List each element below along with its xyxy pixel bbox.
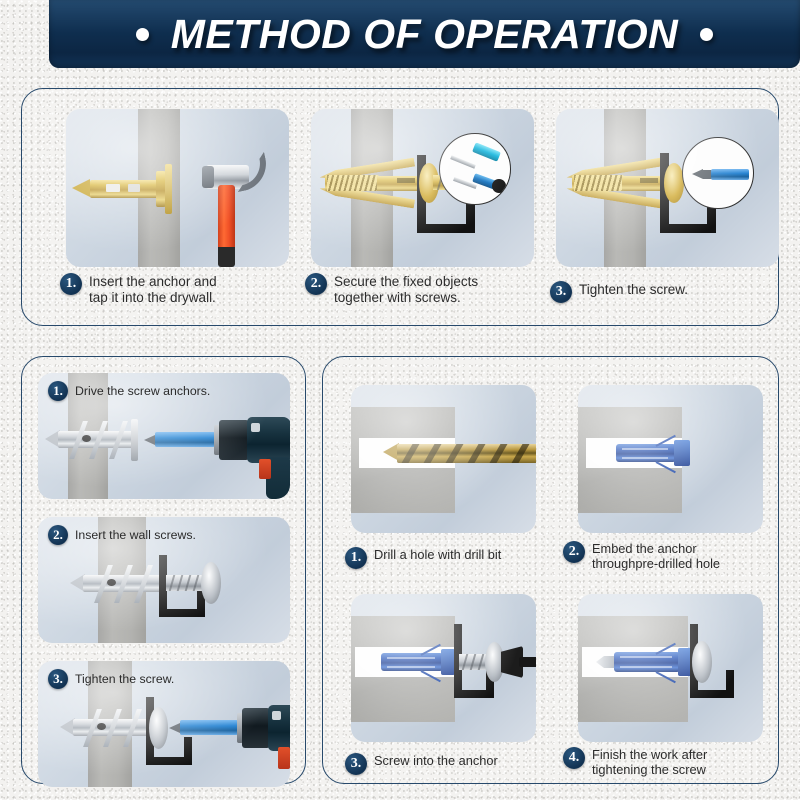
- step-caption-text: Insert the anchor and tap it into the dr…: [89, 274, 217, 305]
- step-number-badge: 1.: [48, 381, 68, 401]
- screwdriver-shaft: [450, 155, 476, 168]
- driver-bit-tip-icon: [169, 723, 180, 733]
- step-number-badge: 1.: [345, 547, 367, 569]
- bullet-dot-icon-left: [136, 28, 149, 41]
- wall-plug-body: [381, 653, 443, 671]
- plug-rib: [622, 448, 668, 450]
- plug-rib: [387, 666, 435, 668]
- caption-step-1: 1. Drill a hole with drill bit: [345, 547, 555, 569]
- screw-head-seated: [692, 641, 712, 683]
- step-caption-text: Secure the fixed objects together with s…: [334, 274, 478, 305]
- step-caption-text: Tighten the screw.: [579, 282, 688, 298]
- anchor-label: [397, 178, 415, 183]
- step-number-badge: 1.: [60, 273, 82, 295]
- driver-shank: [519, 657, 536, 667]
- step-caption-text: Drill a hole with drill bit: [374, 548, 501, 563]
- anchor-slot-2: [128, 184, 140, 192]
- drill-trigger: [278, 747, 290, 769]
- anchor-center-hole: [107, 579, 116, 586]
- step-illustration-twist-drill-bit: [351, 385, 536, 533]
- plug-rib: [622, 457, 668, 459]
- plug-collar: [674, 440, 690, 466]
- anchor-thread-marks: [574, 175, 622, 191]
- driver-bit-tip-icon: [144, 435, 155, 445]
- drill-highlight: [272, 711, 281, 720]
- l-bracket-end: [726, 670, 734, 698]
- hammer-grip: [218, 247, 235, 267]
- step-number-badge: 3.: [345, 753, 367, 775]
- anchor-center-hole: [82, 435, 91, 442]
- anchor-label: [640, 178, 658, 183]
- step-illustration-plug-screw-tight: [578, 594, 763, 742]
- plug-rib: [620, 666, 672, 668]
- step-number-badge: 3.: [550, 281, 572, 303]
- step-illustration-anchor-bracket-screwdrivers: [311, 109, 534, 267]
- screw-head-seated: [149, 707, 168, 749]
- driver-bit-tip-icon: [692, 169, 703, 179]
- drill-chuck: [242, 708, 270, 748]
- screwdriver-end-cap: [492, 179, 506, 193]
- caption-step-4: 4. Finish the work after tightening the …: [563, 747, 773, 778]
- screw-head: [201, 562, 221, 604]
- step-number-badge: 2.: [48, 525, 68, 545]
- step-number-badge: 4.: [563, 747, 585, 769]
- drill-trigger: [259, 459, 271, 479]
- screw-head-seated: [664, 163, 684, 203]
- caption-step-3: 3. Tighten the screw.: [550, 281, 780, 303]
- step-illustration-anchor-driver-bit: [556, 109, 779, 267]
- caption-step-2: 2. Secure the fixed objects together wit…: [305, 273, 535, 305]
- hammer-face: [202, 166, 214, 188]
- toggle-anchor-panel: 1. Insert the anchor and tap it into the…: [21, 88, 779, 326]
- step-caption-text: Insert the wall screws.: [75, 528, 196, 542]
- step-caption-text: Screw into the anchor: [374, 754, 498, 769]
- step-illustration-blue-plug-in-hole: [578, 385, 763, 533]
- bullet-dot-icon-right: [700, 28, 713, 41]
- plug-collar: [441, 649, 455, 675]
- screwdrivers-inset-callout: [439, 133, 511, 205]
- step-caption-text: Drive the screw anchors.: [75, 384, 210, 398]
- header-banner: METHOD OF OPERATION: [49, 0, 800, 68]
- anchor-center-hole: [97, 723, 106, 730]
- caption-step-1: 1. Insert the anchor and tap it into the…: [60, 273, 290, 305]
- caption-step-1: 1. Drive the screw anchors.: [48, 381, 210, 401]
- driver-bit-inset-callout: [682, 137, 754, 209]
- step-number-badge: 2.: [563, 541, 585, 563]
- drill-chuck: [219, 420, 249, 460]
- l-bracket-end: [184, 737, 192, 765]
- plastic-plug-panel: 1. Drill a hole with drill bit 2. Embed …: [322, 356, 779, 784]
- hammer-claw-icon: [231, 152, 271, 192]
- step-caption-text: Tighten the screw.: [75, 672, 174, 686]
- anchor-thread-marks: [327, 175, 377, 191]
- anchor-flange: [131, 419, 138, 461]
- anchor-slot-1: [106, 184, 120, 192]
- anchor-tip-icon: [72, 179, 90, 197]
- plug-rib: [387, 657, 435, 659]
- caption-step-3: 3. Tighten the screw.: [48, 669, 174, 689]
- caption-step-3: 3. Screw into the anchor: [345, 753, 555, 775]
- anchor-flange: [165, 164, 172, 214]
- plug-rib: [620, 656, 672, 658]
- metal-anchor-panel: 1. Drive the screw anchors. 2. Insert th…: [21, 356, 306, 784]
- step-illustration-plug-bracket-screw: [351, 594, 536, 742]
- wall-plug-body: [616, 444, 676, 462]
- wall-plug-body: [614, 652, 680, 672]
- step-illustration-gold-anchor-hammer: [66, 109, 289, 267]
- step-number-badge: 3.: [48, 669, 68, 689]
- driver-bit-shank: [711, 169, 749, 180]
- step-caption-text: Embed the anchor throughpre-drilled hole: [592, 542, 720, 572]
- step-number-badge: 2.: [305, 273, 327, 295]
- page-title: METHOD OF OPERATION: [171, 11, 679, 58]
- caption-step-2: 2. Embed the anchor throughpre-drilled h…: [563, 541, 773, 572]
- screwdriver-handle-cyan: [472, 142, 501, 161]
- step-caption-text: Finish the work after tightening the scr…: [592, 748, 707, 778]
- drill-highlight: [251, 423, 260, 432]
- driver-bit-shank: [180, 720, 238, 735]
- caption-step-2: 2. Insert the wall screws.: [48, 525, 196, 545]
- driver-bit-shank: [155, 432, 215, 447]
